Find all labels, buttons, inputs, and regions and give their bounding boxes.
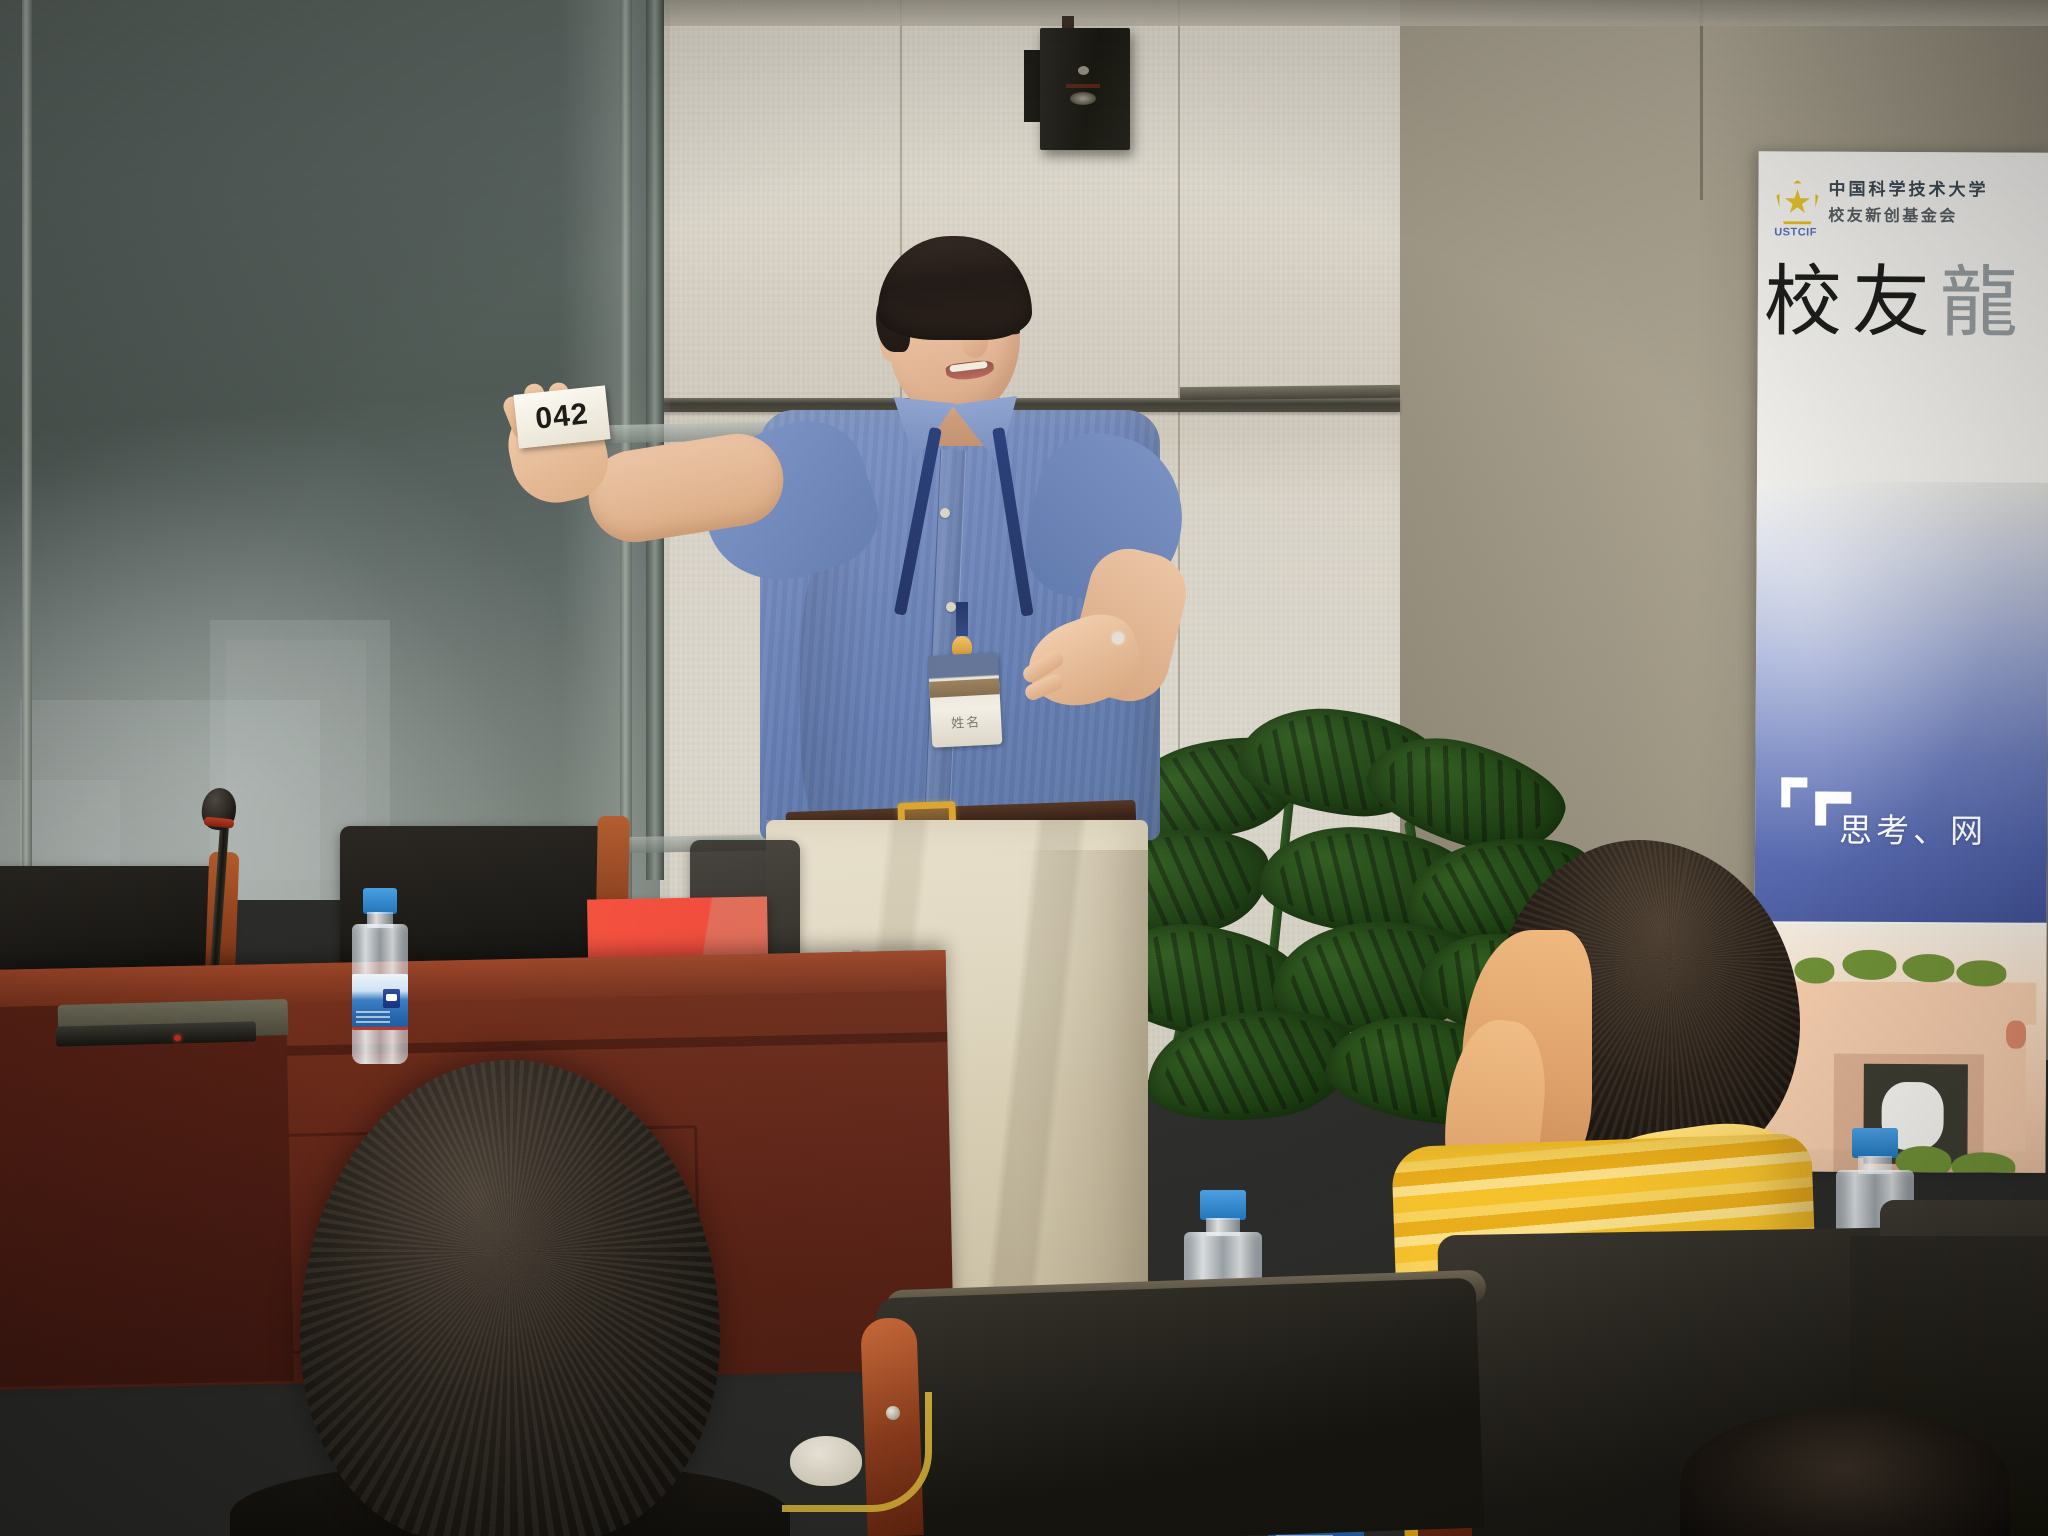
banner-tagline: 思考、网 <box>1839 804 1987 853</box>
podium-front-panel <box>0 1001 294 1387</box>
lanyard-clip <box>956 602 968 636</box>
banner-headline-faint: 龍 <box>1940 258 2028 348</box>
banner-headline: 校友龍 <box>1764 263 2028 342</box>
water-bottle <box>352 888 408 1064</box>
name-badge-text: 姓名 <box>931 710 1002 733</box>
trouser-shadow <box>1020 850 1148 1320</box>
ceiling-speaker-icon <box>1040 28 1130 150</box>
number-card: 042 <box>513 385 610 448</box>
power-led-indicator <box>174 1035 181 1041</box>
ustc-logo-abbr: USTCIF <box>1774 226 1817 238</box>
banner-headline-main: 校友 <box>1764 257 1940 348</box>
shirt-fold <box>800 550 870 840</box>
photo-scene: USTCIF 中国科学技术大学 校友新创基金会 校友龍 思考、网 <box>0 0 2048 1536</box>
finger-ring <box>1112 632 1124 644</box>
banner-gradient-panel <box>1754 481 2048 953</box>
ustc-logo-icon: USTCIF <box>1776 180 1818 224</box>
desk-object-white <box>790 1436 862 1486</box>
wall-seam <box>1700 0 1703 200</box>
speaker-woofer <box>1070 92 1096 105</box>
banner-org-line-1: 中国科学技术大学 <box>1828 178 1988 204</box>
speaker-stripe <box>1066 84 1100 88</box>
wall-groove-right <box>1180 385 1400 400</box>
ceiling-edge <box>640 0 2048 26</box>
foreground-chair <box>876 1278 1484 1536</box>
speaker-tweeter <box>1078 66 1089 75</box>
shirt-button <box>946 602 956 612</box>
presenter-hair <box>878 236 1032 340</box>
glass-frame <box>22 0 32 900</box>
number-card-text: 042 <box>534 397 590 436</box>
shirt-button <box>940 508 950 518</box>
name-badge: 姓名 <box>928 652 1003 748</box>
banner-logo-row: USTCIF 中国科学技术大学 校友新创基金会 <box>1776 177 1988 228</box>
banner-org-line-2: 校友新创基金会 <box>1828 203 1988 228</box>
